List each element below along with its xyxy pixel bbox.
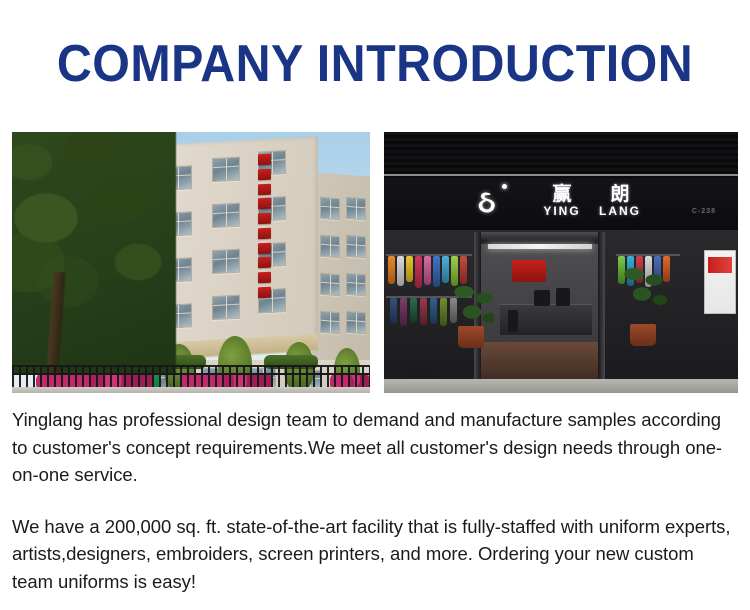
garment <box>410 298 417 323</box>
introduction-body: Yinglang has professional design team to… <box>12 406 738 595</box>
page-title: COMPANY INTRODUCTION <box>26 34 724 94</box>
showroom-storefront-photo: ઠ 赢 YING 朗 LANG C-238 <box>384 132 738 393</box>
factory-vertical-sign <box>256 154 273 299</box>
sign-word-lang-cn: 朗 <box>586 184 654 204</box>
standing-fan <box>508 310 518 332</box>
ceiling-slats <box>384 132 738 176</box>
curb <box>12 387 370 393</box>
desk-equipment-2 <box>556 288 570 306</box>
door-frame-right <box>598 232 605 392</box>
sign-word-ying-cn: 赢 <box>532 184 592 204</box>
window-grid-right <box>312 172 370 373</box>
brand-logo-icon: ઠ <box>478 188 495 218</box>
plant-pot-right <box>630 324 656 346</box>
garment <box>415 256 422 288</box>
desk-equipment-1 <box>534 290 550 306</box>
sign-word-lang-en: LANG <box>586 204 654 218</box>
potted-plant-right <box>620 264 678 328</box>
garment <box>388 256 395 284</box>
building-right-wing <box>312 172 370 373</box>
interior-logo-plaque <box>512 260 546 282</box>
garment <box>430 298 437 324</box>
garment <box>420 298 427 325</box>
garment <box>433 256 440 287</box>
sign-word-ying-en: YING <box>532 204 592 218</box>
plant-pot-left <box>458 326 484 348</box>
paragraph-2: We have a 200,000 sq. ft. state-of-the-a… <box>12 513 738 596</box>
interior-light-bar <box>488 244 592 249</box>
garment <box>390 298 397 324</box>
factory-building-photo <box>12 132 370 393</box>
unit-code-label: C-238 <box>692 208 716 215</box>
foreground-tree <box>12 132 176 374</box>
door-header-bar <box>474 232 605 242</box>
garment <box>460 256 467 284</box>
garment <box>442 256 449 283</box>
garment <box>440 298 447 326</box>
exterior-ground <box>384 379 738 393</box>
sign-word-ying: 赢 YING <box>532 184 592 218</box>
garment <box>400 298 407 326</box>
potted-plant-left <box>450 282 494 330</box>
wall-poster-right <box>704 250 736 314</box>
sign-word-lang: 朗 LANG <box>586 184 654 218</box>
paragraph-1: Yinglang has professional design team to… <box>12 406 738 489</box>
photo-gallery: ઠ 赢 YING 朗 LANG C-238 <box>12 132 738 393</box>
company-introduction-page: COMPANY INTRODUCTION <box>0 0 750 610</box>
garment <box>397 256 404 286</box>
garment <box>406 256 413 282</box>
interior-floor <box>480 342 604 382</box>
garment <box>424 256 431 285</box>
brand-logo-dot-icon <box>502 184 507 189</box>
